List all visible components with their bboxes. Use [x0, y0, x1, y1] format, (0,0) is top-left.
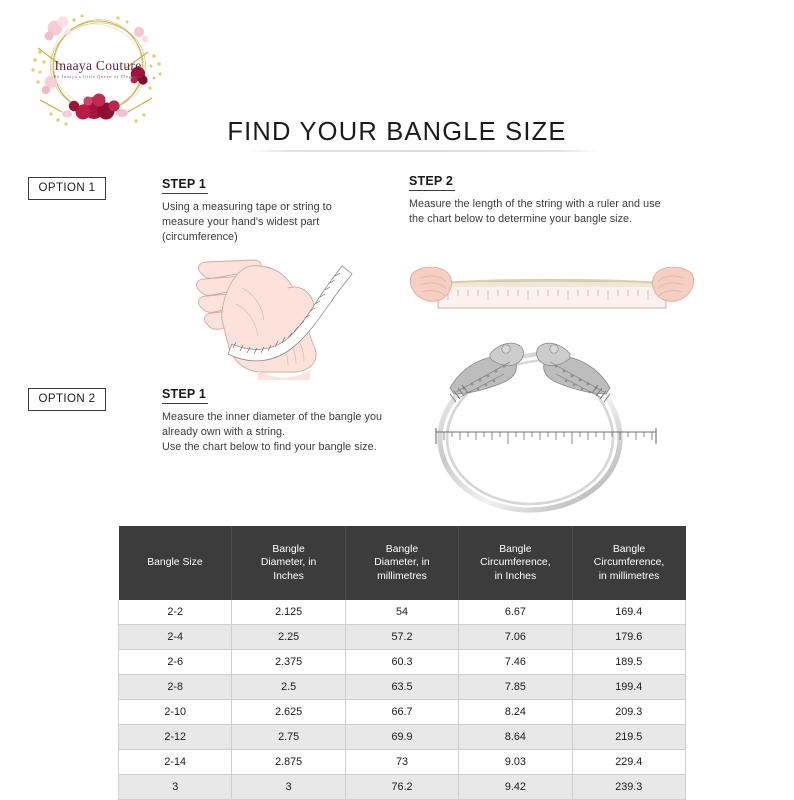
header-line: Circumference, [594, 557, 664, 568]
table-cell-2: 73 [345, 750, 458, 775]
column-header-diameter-millimetres: Bangle Diameter, in millimetres [345, 526, 458, 600]
brand-logo: Inaaya Couture Be Inaaya's little Queen … [18, 8, 178, 128]
option-2-step-1-heading: STEP 1 [162, 387, 206, 404]
table-cell-3: 7.85 [459, 675, 572, 700]
option-1-step-1-heading: STEP 1 [162, 177, 206, 194]
table-row: 2-62.37560.37.46189.5 [119, 650, 686, 675]
table-cell-1: 3 [232, 775, 345, 800]
table-cell-1: 2.125 [232, 600, 345, 625]
header-line: in Inches [495, 571, 537, 582]
table-row: 2-142.875739.03229.4 [119, 750, 686, 775]
table-cell-4: 229.4 [572, 750, 685, 775]
table-cell-4: 169.4 [572, 600, 685, 625]
table-cell-2: 76.2 [345, 775, 458, 800]
table-cell-4: 179.6 [572, 625, 685, 650]
header-line: millimetres [377, 571, 427, 582]
table-cell-0: 2-10 [119, 700, 232, 725]
table-cell-1: 2.625 [232, 700, 345, 725]
table-cell-3: 7.06 [459, 625, 572, 650]
column-header-diameter-inches: Bangle Diameter, in Inches [232, 526, 345, 600]
header-line: Diameter, in [261, 557, 316, 568]
header-line: Bangle Size [147, 557, 202, 568]
option-2-step-1-text: Measure the inner diameter of the bangle… [162, 410, 407, 456]
page-title: FIND YOUR BANGLE SIZE [0, 118, 794, 147]
header-line: Bangle [613, 544, 645, 555]
table-row: 2-102.62566.78.24209.3 [119, 700, 686, 725]
table-cell-4: 239.3 [572, 775, 685, 800]
header-line: Bangle [272, 544, 304, 555]
table-cell-4: 219.5 [572, 725, 685, 750]
table-row: 2-42.2557.27.06179.6 [119, 625, 686, 650]
table-cell-0: 2-4 [119, 625, 232, 650]
table-cell-0: 2-6 [119, 650, 232, 675]
brand-tagline: Be Inaaya's little Queen of Elegance [18, 74, 178, 79]
title-divider [248, 150, 600, 152]
table-cell-1: 2.5 [232, 675, 345, 700]
table-cell-2: 57.2 [345, 625, 458, 650]
table-cell-2: 60.3 [345, 650, 458, 675]
column-header-bangle-size: Bangle Size [119, 526, 232, 600]
table-cell-3: 8.64 [459, 725, 572, 750]
header-line: Bangle [386, 544, 418, 555]
option-1-step-1-text: Using a measuring tape or string to meas… [162, 200, 362, 246]
table-cell-3: 8.24 [459, 700, 572, 725]
table-cell-3: 9.03 [459, 750, 572, 775]
table-cell-0: 2-12 [119, 725, 232, 750]
table-cell-0: 2-8 [119, 675, 232, 700]
table-cell-3: 9.42 [459, 775, 572, 800]
table-cell-3: 7.46 [459, 650, 572, 675]
header-line: Inches [273, 571, 304, 582]
table-cell-2: 63.5 [345, 675, 458, 700]
table-row: 2-122.7569.98.64219.5 [119, 725, 686, 750]
table-cell-1: 2.75 [232, 725, 345, 750]
option-1-badge: OPTION 1 [28, 177, 106, 200]
table-cell-1: 2.375 [232, 650, 345, 675]
table-cell-4: 209.3 [572, 700, 685, 725]
header-line: Circumference, [480, 557, 550, 568]
silver-bangle-with-ruler-illustration [420, 332, 682, 516]
table-cell-2: 66.7 [345, 700, 458, 725]
column-header-circumference-millimetres: Bangle Circumference, in millimetres [572, 526, 685, 600]
brand-name: Inaaya Couture [18, 58, 178, 74]
header-line: Diameter, in [374, 557, 429, 568]
option-1-step-2-heading: STEP 2 [409, 174, 453, 191]
table-cell-0: 3 [119, 775, 232, 800]
table-cell-0: 2-14 [119, 750, 232, 775]
table-cell-4: 189.5 [572, 650, 685, 675]
option-1-step-2-text: Measure the length of the string with a … [409, 197, 671, 227]
column-header-circumference-inches: Bangle Circumference, in Inches [459, 526, 572, 600]
table-cell-1: 2.875 [232, 750, 345, 775]
hands-holding-ruler-illustration [408, 252, 696, 332]
table-row: 2-82.563.57.85199.4 [119, 675, 686, 700]
bangle-size-table: Bangle Size Bangle Diameter, in Inches B… [118, 526, 686, 800]
table-cell-3: 6.67 [459, 600, 572, 625]
table-cell-2: 54 [345, 600, 458, 625]
table-row: 3376.29.42239.3 [119, 775, 686, 800]
header-line: Bangle [499, 544, 531, 555]
table-cell-0: 2-2 [119, 600, 232, 625]
table-cell-2: 69.9 [345, 725, 458, 750]
table-row: 2-22.125546.67169.4 [119, 600, 686, 625]
hand-with-measuring-tape-illustration [192, 248, 362, 380]
table-cell-4: 199.4 [572, 675, 685, 700]
header-line: in millimetres [599, 571, 660, 582]
table-cell-1: 2.25 [232, 625, 345, 650]
option-2-badge: OPTION 2 [28, 388, 106, 411]
table-header-row: Bangle Size Bangle Diameter, in Inches B… [119, 526, 686, 600]
